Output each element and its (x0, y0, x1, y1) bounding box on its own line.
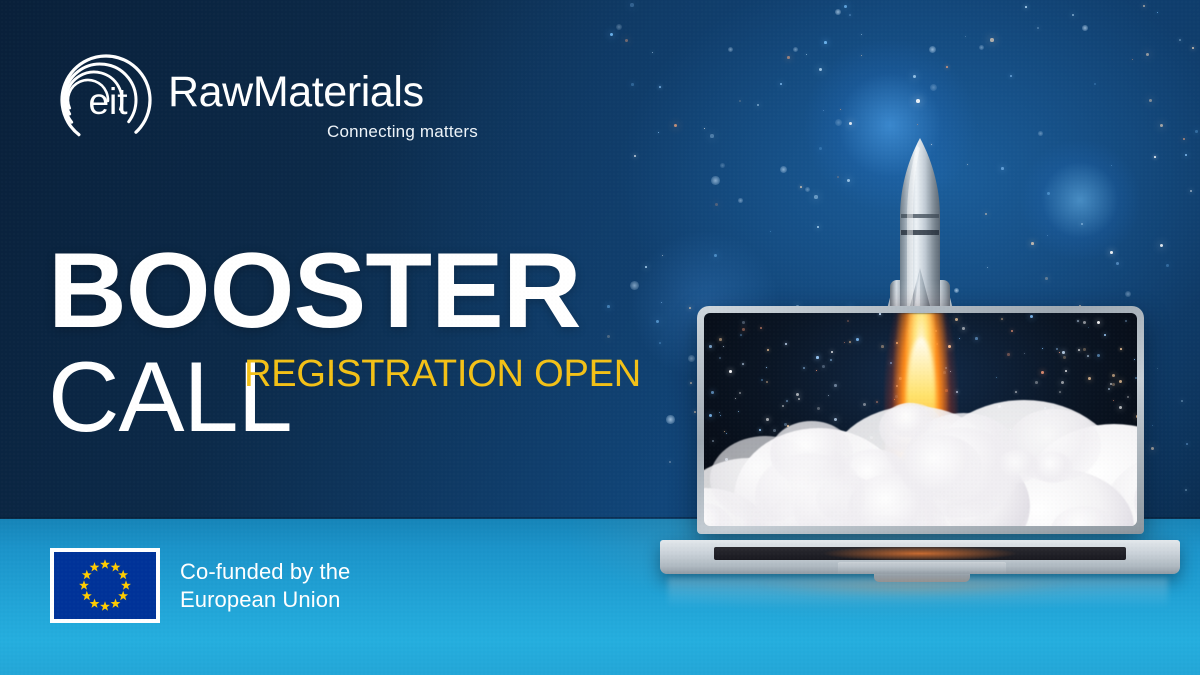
eu-funding-badge: Co-funded by the European Union (50, 548, 350, 623)
headline-row-call: CALL REGISTRATION OPEN (48, 347, 688, 446)
headline-block: BOOSTER CALL REGISTRATION OPEN (48, 238, 688, 446)
laptop-screen (704, 313, 1137, 526)
eu-funding-line2: European Union (180, 586, 350, 614)
brand-name-part1: Raw (168, 68, 253, 116)
flame-desk-reflection (680, 582, 1150, 628)
headline-registration-open: REGISTRATION OPEN (244, 353, 641, 396)
headline-line-booster: BOOSTER (48, 238, 701, 343)
laptop-deck (660, 540, 1180, 574)
eit-rawmaterials-logo: eit RawMaterials Connecting matters (48, 48, 448, 152)
keyboard-glow (800, 547, 1040, 560)
laptop-base (660, 534, 1180, 582)
eit-circles-logo-icon: eit (48, 48, 160, 152)
eu-funding-text: Co-funded by the European Union (180, 558, 350, 614)
brand-name: RawMaterials (168, 68, 424, 117)
eu-flag-field (54, 552, 156, 619)
promo-banner: eit RawMaterials Connecting matters BOOS… (0, 0, 1200, 675)
eu-flag-icon (50, 548, 160, 623)
laptop-rocket-illustration (640, 0, 1200, 675)
laptop-lid (697, 306, 1144, 534)
eu-funding-line1: Co-funded by the (180, 558, 350, 586)
smoke-clouds (704, 362, 1137, 526)
brand-tagline: Connecting matters (168, 122, 478, 142)
brand-name-part2: Materials (253, 68, 424, 116)
eit-logo-text: eit (88, 81, 128, 122)
